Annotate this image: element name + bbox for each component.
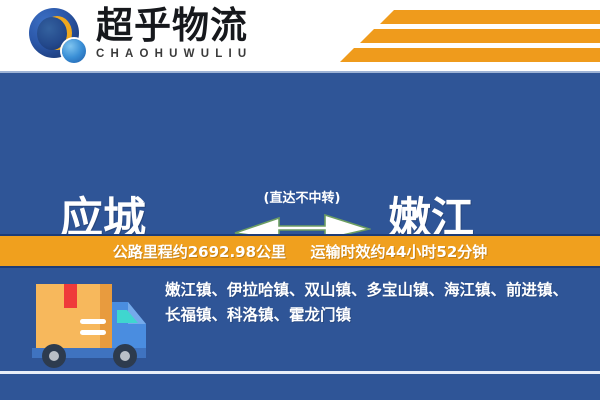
band-text-row: 公路里程约2692.98公里 运输时效约44小时52分钟: [113, 241, 488, 262]
route-note-direct: (直达不中转): [233, 191, 371, 207]
coverage-section: 嫩江镇、伊拉哈镇、双山镇、多宝山镇、海江镇、前进镇、长福镇、科洛镇、霍龙门镇: [0, 268, 600, 400]
brand-block: 超乎物流 CHAOHUWULIU: [96, 6, 252, 61]
logistics-route-banner: 超乎物流 CHAOHUWULIU 应城 (直达不中转) 【往返运输】 嫩江 公路…: [0, 0, 600, 400]
stripe-3: [340, 48, 600, 62]
covered-towns-text: 嫩江镇、伊拉哈镇、双山镇、多宝山镇、海江镇、前进镇、长福镇、科洛镇、霍龙门镇: [165, 278, 575, 328]
header: 超乎物流 CHAOHUWULIU: [0, 0, 600, 71]
delivery-truck-icon: [24, 274, 152, 374]
company-logo[interactable]: [29, 8, 87, 66]
stripe-2: [360, 29, 600, 43]
brand-name-en: CHAOHUWULIU: [96, 48, 252, 61]
logo-dot-icon: [62, 39, 86, 63]
brand-name-cn: 超乎物流: [96, 6, 252, 46]
header-stripes-decoration: [330, 6, 600, 66]
road-line: [0, 371, 600, 374]
distance-text: 公路里程约2692.98公里: [113, 243, 286, 261]
duration-text: 运输时效约44小时52分钟: [311, 243, 488, 261]
info-band: 公路里程约2692.98公里 运输时效约44小时52分钟: [0, 236, 600, 266]
route-section: 应城 (直达不中转) 【往返运输】 嫩江: [0, 73, 600, 234]
stripe-1: [380, 10, 600, 24]
